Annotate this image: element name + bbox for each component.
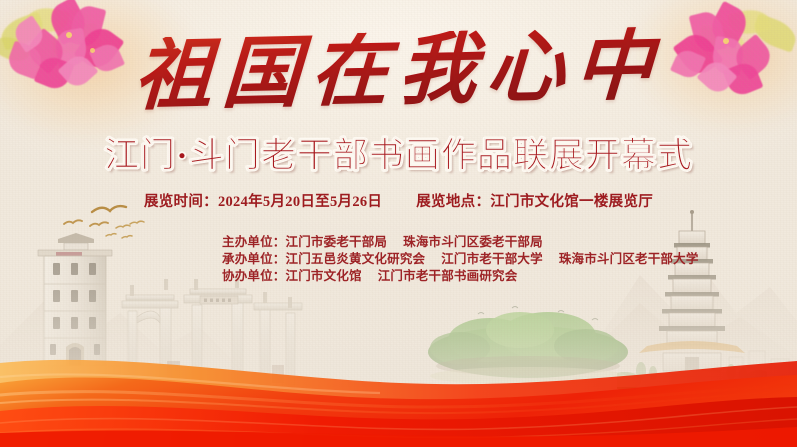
exhibition-place-label: 展览地点： — [416, 194, 490, 210]
organizer-entry: 江门五邑炎黄文化研究会 — [286, 252, 426, 266]
organizer-label: 主办单位： — [222, 234, 286, 251]
poster-canvas: 祖国在我心中 江门·斗门老干部书画作品联展开幕式 展览时间：2024年5月20日… — [0, 0, 797, 447]
organizer-label: 承办单位： — [222, 251, 286, 268]
exhibition-time-value: 2024年5月20日至5月26日 — [218, 194, 382, 210]
organizer-entry: 江门市文化馆 — [286, 269, 362, 283]
organizer-row-undertaker: 承办单位：江门五邑炎黄文化研究会江门市老干部大学珠海市斗门区老干部大学 — [222, 251, 699, 268]
organizer-entry: 江门市委老干部局 — [286, 235, 388, 249]
organizer-entry: 珠海市斗门区委老干部局 — [403, 235, 543, 249]
organizer-entry: 珠海市斗门区老干部大学 — [559, 252, 699, 266]
poster-subtitle: 江门·斗门老干部书画作品联展开幕式 — [0, 136, 797, 176]
organizer-block: 主办单位：江门市委老干部局珠海市斗门区委老干部局 承办单位：江门五邑炎黄文化研究… — [222, 234, 699, 285]
organizer-row-coorganizer: 协办单位：江门市文化馆江门市老干部书画研究会 — [222, 268, 699, 285]
organizer-entry: 江门市老干部书画研究会 — [378, 269, 518, 283]
exhibition-place-value: 江门市文化馆一楼展览厅 — [490, 194, 653, 210]
red-ribbon-waves — [0, 337, 797, 447]
exhibition-info-line: 展览时间：2024年5月20日至5月26日展览地点：江门市文化馆一楼展览厅 — [0, 190, 797, 211]
organizer-label: 协办单位： — [222, 268, 286, 285]
exhibition-time-label: 展览时间： — [144, 194, 218, 210]
organizer-entry: 江门市老干部大学 — [441, 252, 543, 266]
organizer-row-host: 主办单位：江门市委老干部局珠海市斗门区委老干部局 — [222, 234, 699, 251]
